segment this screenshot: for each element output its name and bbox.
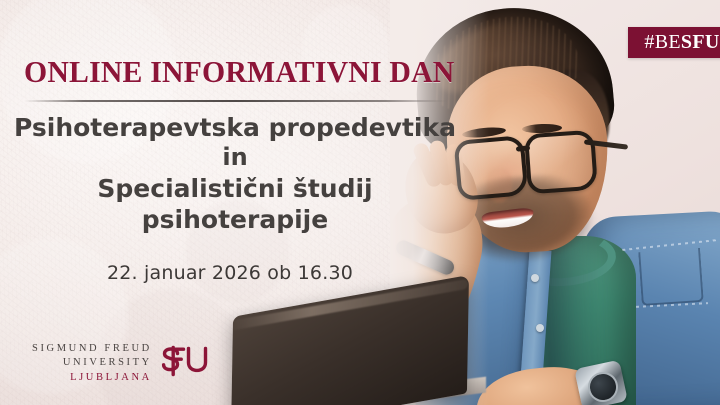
page-title: ONLINE INFORMATIVNI DAN [24,54,454,90]
programme-subtitle: Psihoterapevtska propedevtika in Special… [0,112,470,235]
university-logo-wordmark: SIGMUND FREUD UNIVERSITY LJUBLJANA [32,342,152,385]
subtitle-line-2: in [0,143,470,173]
logo-line-1: SIGMUND FREUD [32,342,152,356]
poster-canvas: ONLINE INFORMATIVNI DAN Psihoterapevtska… [0,0,720,405]
university-logo: SIGMUND FREUD UNIVERSITY LJUBLJANA [32,342,211,385]
sfu-monogram-icon [161,344,211,384]
subtitle-line-4: psihoterapije [0,204,470,235]
subtitle-line-1: Psihoterapevtska propedevtika [0,112,470,143]
shirt-pocket [638,248,704,306]
shirt-button [536,324,544,332]
hashtag-suffix: SFU [681,31,720,53]
title-divider [24,100,448,102]
hashtag-prefix: #BE [644,31,680,53]
logo-line-3: LJUBLJANA [32,371,152,385]
shirt-button [531,274,539,282]
logo-line-2: UNIVERSITY [32,356,152,370]
event-datetime: 22. januar 2026 ob 16.30 [0,262,460,284]
hashtag-badge-text: #BESFU [644,31,719,54]
hashtag-badge: #BESFU [628,27,720,58]
subtitle-line-3: Specialistični študij [0,173,470,204]
